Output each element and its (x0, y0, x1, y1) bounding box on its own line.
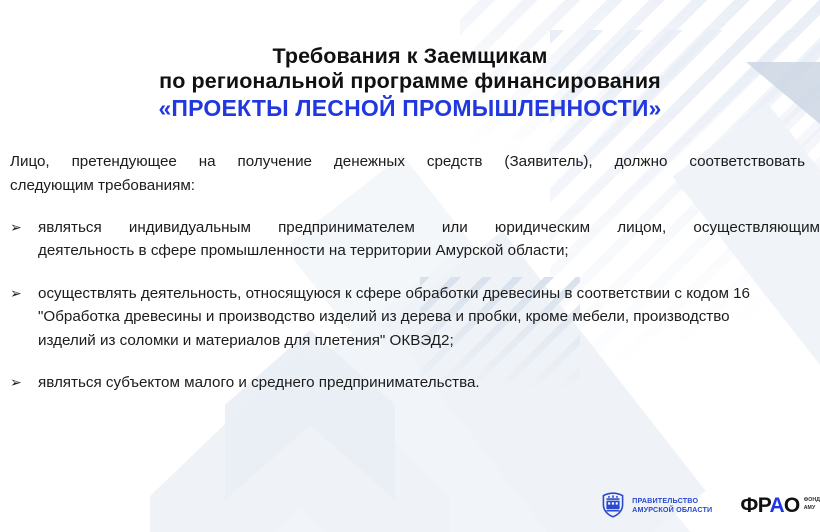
frao-logo: ФРАО ФОНД АМУ (740, 495, 820, 516)
frao-subtitle: ФОНД АМУ (804, 497, 820, 512)
slide-title: Требования к Заемщикам по региональной п… (0, 0, 820, 122)
list-item: ➢ осуществлять деятельность, относящуюся… (10, 282, 820, 353)
intro-line-2: следующим требованиям: (10, 174, 820, 198)
requirements-list: ➢ являться индивидуальным предпринимател… (10, 216, 820, 395)
list-item-line-1: осуществлять деятельность, относящуюся к… (38, 282, 820, 306)
frao-wordmark-part-1: ФР (740, 495, 769, 516)
frao-subtitle-line-1: ФОНД (804, 497, 820, 503)
government-logo-text: ПРАВИТЕЛЬСТВО АМУРСКОЙ ОБЛАСТИ (632, 496, 712, 515)
intro-paragraph: Лицо, претендующее на получение денежных… (10, 150, 820, 197)
list-item: ➢ являться субъектом малого и среднего п… (10, 371, 820, 395)
presentation-slide: Требования к Заемщикам по региональной п… (0, 0, 820, 532)
title-line-2: по региональной программе финансирования (0, 69, 820, 94)
frao-subtitle-line-2: АМУ (804, 505, 816, 511)
government-logo-line-1: ПРАВИТЕЛЬСТВО (632, 496, 698, 505)
list-item-line-1: являться субъектом малого и среднего пре… (38, 371, 820, 395)
amur-coat-of-arms-icon (600, 492, 626, 518)
government-logo-line-2: АМУРСКОЙ ОБЛАСТИ (632, 505, 712, 514)
title-program-name: «ПРОЕКТЫ ЛЕСНОЙ ПРОМЫШЛЕННОСТИ» (0, 95, 820, 123)
arrowhead-bullet-icon: ➢ (10, 216, 38, 238)
frao-wordmark-part-2: О (784, 495, 800, 516)
intro-line-1: Лицо, претендующее на получение денежных… (10, 150, 805, 174)
slide-content: Требования к Заемщикам по региональной п… (0, 0, 820, 395)
slide-footer: ПРАВИТЕЛЬСТВО АМУРСКОЙ ОБЛАСТИ ФРАО ФОНД… (0, 492, 820, 518)
list-item-line-1: являться индивидуальным предпринимателем… (38, 216, 820, 240)
frao-wordmark-accent: А (769, 495, 783, 516)
list-item-text: являться индивидуальным предпринимателем… (38, 216, 820, 263)
list-item-line-2: деятельность в сфере промышленности на т… (38, 239, 820, 263)
list-item: ➢ являться индивидуальным предпринимател… (10, 216, 820, 263)
slide-body: Лицо, претендующее на получение денежных… (0, 150, 820, 395)
list-item-text: осуществлять деятельность, относящуюся к… (38, 282, 820, 353)
government-logo: ПРАВИТЕЛЬСТВО АМУРСКОЙ ОБЛАСТИ (600, 492, 712, 518)
frao-wordmark: ФРАО (740, 495, 799, 516)
list-item-line-2: "Обработка древесины и производство изде… (38, 305, 820, 329)
arrowhead-bullet-icon: ➢ (10, 371, 38, 393)
title-line-1: Требования к Заемщикам (0, 44, 820, 69)
list-item-line-3: изделий из соломки и материалов для плет… (38, 329, 820, 353)
list-item-text: являться субъектом малого и среднего пре… (38, 371, 820, 395)
arrowhead-bullet-icon: ➢ (10, 282, 38, 304)
